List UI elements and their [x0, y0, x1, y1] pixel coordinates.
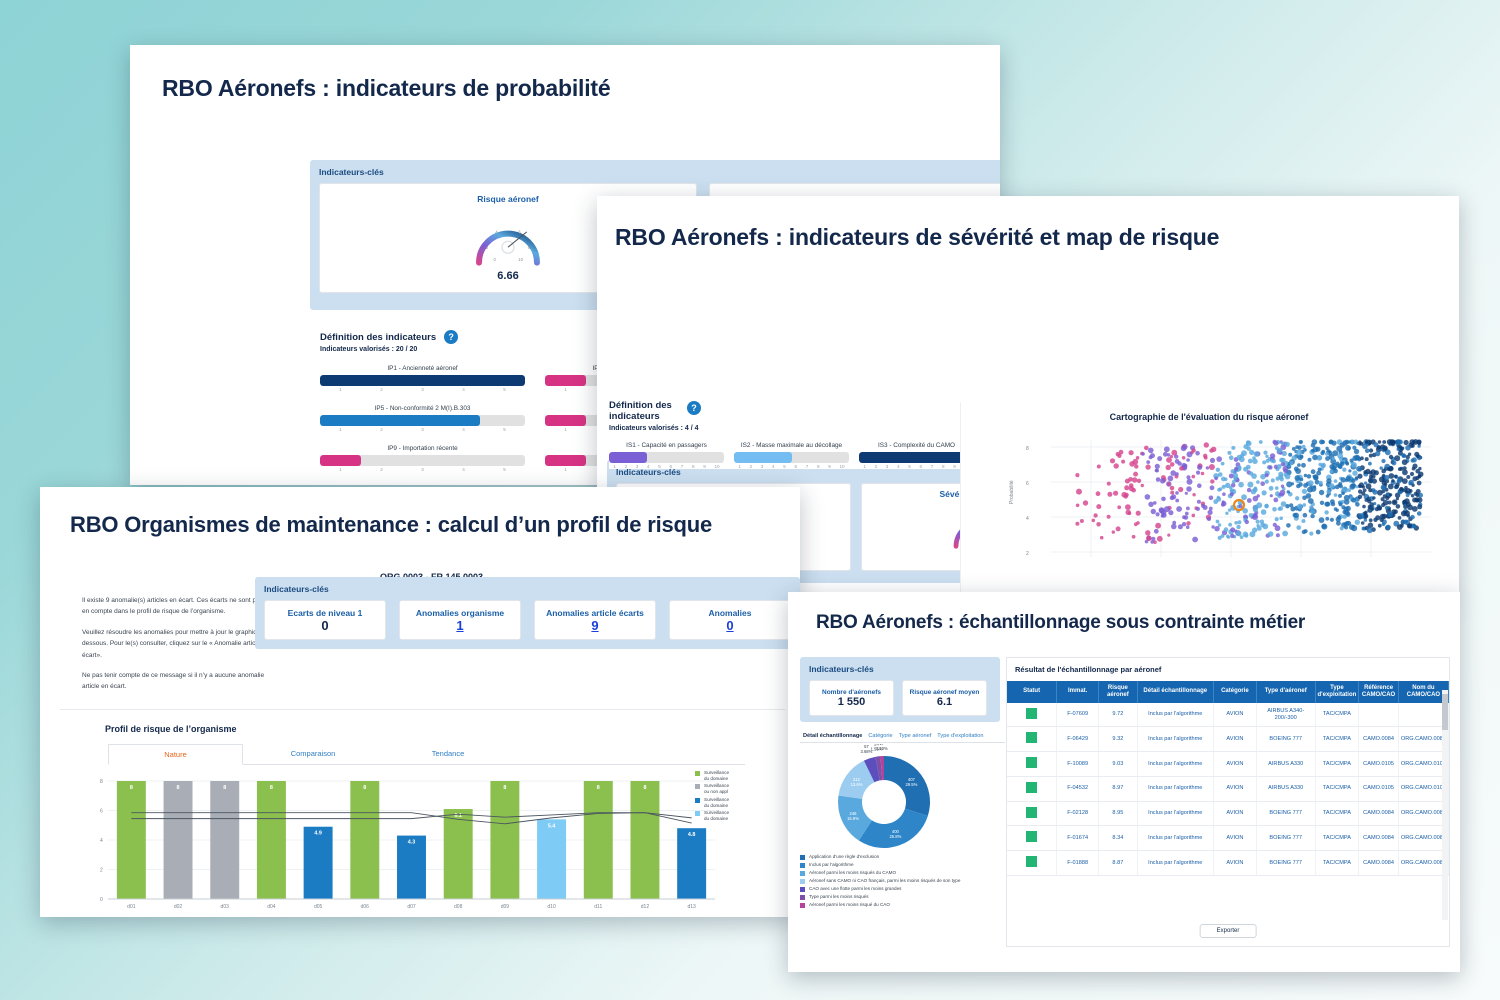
tab-detail-echantillonnage[interactable]: Détail échantillonnage — [800, 730, 865, 742]
legend-swatch — [800, 855, 805, 860]
cell-detail: Inclus par l'algorithme — [1137, 776, 1213, 801]
risk-map-section[interactable]: Cartographie de l'évaluation du risque a… — [960, 402, 1457, 594]
table-row[interactable]: F-045328.97Inclus par l'algorithmeAVIONA… — [1007, 776, 1449, 801]
svg-text:d07: d07 — [407, 904, 416, 910]
svg-text:1.10%: 1.10% — [876, 746, 888, 751]
svg-text:2: 2 — [100, 868, 103, 874]
indicator-bar — [320, 455, 525, 466]
svg-text:d09: d09 — [501, 904, 510, 910]
col-detail-echantillonnage[interactable]: Détail échantillonnage — [1137, 681, 1213, 703]
cell-nom-camo: ORG.CAMO.0105 — [1398, 776, 1448, 801]
col-risque-aeronef[interactable]: Risque aéronef — [1099, 681, 1137, 703]
col-type-aeronef[interactable]: Type d'aéronef — [1256, 681, 1315, 703]
cell-immat: F-01888 — [1057, 851, 1099, 876]
message-line-3: Ne pas tenir compte de ce message si il … — [82, 670, 277, 693]
col-type-exploitation[interactable]: Type d'exploitation — [1315, 681, 1359, 703]
cell-statut — [1007, 851, 1057, 876]
cell-type-aeronef: AIRBUS A330 — [1256, 776, 1315, 801]
kpi-section-sampling: Indicateurs-clés Nombre d'aéronefs 1 550… — [800, 657, 1000, 722]
card-value[interactable]: 9 — [591, 618, 598, 633]
col-nom-camo[interactable]: Nom du CAMO/CAO — [1398, 681, 1448, 703]
card-title: Ecarts de niveau 1 — [288, 608, 363, 618]
kpi-header: Indicateurs-clés — [264, 584, 791, 594]
svg-text:d02: d02 — [174, 904, 183, 910]
map-title: Cartographie de l'évaluation du risque a… — [961, 412, 1457, 422]
page-title: RBO Aéronefs : indicateurs de sévérité e… — [615, 224, 1459, 251]
table-row[interactable]: F-021288.95Inclus par l'algorithmeAVIONB… — [1007, 801, 1449, 826]
svg-text:d11: d11 — [594, 904, 602, 910]
warning-message: Il existe 9 anomalie(s) articles en écar… — [82, 595, 277, 693]
legend-label: Aéronef parmi les moins risqués du CAMO — [809, 870, 896, 876]
kpi-card-risque-moyen[interactable]: Risque aéronef moyen 6.1 — [902, 680, 987, 716]
indicator-label: IS2 - Masse maximale au décollage — [734, 442, 849, 449]
message-line-1: Il existe 9 anomalie(s) articles en écar… — [82, 595, 277, 618]
svg-text:13.6%: 13.6% — [851, 782, 863, 787]
legend-label: CAO avec une flotte parmi les moins gran… — [809, 886, 901, 892]
table-title: Résultat de l'échantillonnage par aérone… — [1007, 658, 1449, 681]
legend-label: Aéronef parmi les moins risqué du CAO — [809, 902, 890, 908]
cell-type-aeronef: BOEING 777 — [1256, 801, 1315, 826]
svg-text:5.4: 5.4 — [548, 823, 556, 829]
export-button[interactable]: Exporter — [1200, 924, 1257, 938]
section-title: Définition des indicateurs — [609, 401, 679, 423]
kpi-card-ecarts-niveau-1[interactable]: Ecarts de niveau 1 0 — [264, 600, 386, 640]
card-value[interactable]: 1 — [456, 618, 463, 633]
cell-categorie: AVION — [1213, 851, 1256, 876]
risk-profile-chart-section: Profil de risque de l’organisme Nature C… — [60, 709, 785, 909]
cell-risque: 9.32 — [1099, 727, 1137, 752]
cell-exploitation: TAC/CMPA — [1315, 801, 1359, 826]
svg-text:4: 4 — [100, 838, 103, 844]
card-title: Anomalies — [709, 608, 752, 618]
indicator-ip9[interactable]: IP9 - Importation récente 12345 — [320, 445, 525, 472]
scrollbar-thumb[interactable] — [1442, 694, 1448, 730]
tab-tendance[interactable]: Tendance — [383, 744, 513, 764]
indicator-is1[interactable]: IS1 - Capacité en passagers 12345678910 — [609, 442, 724, 469]
cell-exploitation: TAC/CMPA — [1315, 752, 1359, 777]
cell-immat: F-01674 — [1057, 826, 1099, 851]
card-value: 6.1 — [937, 696, 952, 708]
cell-nom-camo: ORG.CAMO.0084 — [1398, 801, 1448, 826]
cell-statut — [1007, 752, 1057, 777]
cell-nom-camo: ORG.CAMO.0084 — [1398, 727, 1448, 752]
cell-risque: 8.34 — [1099, 826, 1137, 851]
svg-text:8: 8 — [1026, 446, 1029, 452]
chart-title: Profil de risque de l’organisme — [105, 724, 785, 734]
sampling-table[interactable]: Statut Immat. Risque aéronef Détail écha… — [1007, 681, 1449, 876]
table-scrollbar[interactable] — [1442, 690, 1448, 920]
svg-text:8: 8 — [503, 785, 506, 791]
cell-reference: CAMO.0105 — [1359, 776, 1399, 801]
legend-swatch — [800, 895, 805, 900]
donut-legend: Application d'une règle d'exclusion Incl… — [800, 854, 1000, 910]
legend-swatch — [695, 771, 700, 776]
legend-swatch — [800, 863, 805, 868]
message-line-2: Veuillez résoudre les anomalies pour met… — [82, 627, 277, 661]
kpi-header: Indicateurs-clés — [319, 167, 1000, 177]
indicator-ticks: 12345678910 — [859, 464, 974, 469]
indicator-label: IS1 - Capacité en passagers — [609, 442, 724, 449]
svg-text:6: 6 — [100, 809, 103, 815]
svg-text:25.8%: 25.8% — [889, 834, 901, 839]
cell-risque: 8.87 — [1099, 851, 1137, 876]
kpi-card-anomalies-organisme[interactable]: Anomalies organisme 1 — [399, 600, 521, 640]
svg-text:8: 8 — [270, 785, 273, 791]
cell-detail: Inclus par l'algorithme — [1137, 851, 1213, 876]
status-badge — [1026, 856, 1037, 867]
chart-legend: Surveillancedu domaine Surveillanceou no… — [695, 770, 790, 824]
cell-exploitation: TAC/CMPA — [1315, 776, 1359, 801]
table-row[interactable]: F-076099.72Inclus par l'algorithmeAVIONA… — [1007, 703, 1449, 727]
cell-detail: Inclus par l'algorithme — [1137, 801, 1213, 826]
indicator-label: IP1 - Ancienneté aéronef — [320, 365, 525, 372]
svg-text:4.9: 4.9 — [314, 831, 322, 837]
cell-reference: CAMO.0105 — [1359, 752, 1399, 777]
legend-swatch — [695, 784, 700, 789]
status-badge — [1026, 757, 1037, 768]
legend-swatch — [695, 798, 700, 803]
status-badge — [1026, 782, 1037, 793]
legend-swatch — [800, 903, 805, 908]
legend-swatch — [695, 811, 700, 816]
donut-chart: 40729.5%40025.8%24615.9%21213.6%573.68%2… — [796, 744, 1006, 864]
cell-immat: F-06429 — [1057, 727, 1099, 752]
legend-item: Inclus par l'algorithme — [800, 862, 1000, 868]
cell-nom-camo: ORG.CAMO.0084 — [1398, 826, 1448, 851]
cell-categorie: AVION — [1213, 826, 1256, 851]
svg-text:d08: d08 — [454, 904, 463, 910]
status-badge — [1026, 831, 1037, 842]
help-icon[interactable]: ? — [687, 401, 701, 415]
panel-maintenance[interactable]: RBO Organismes de maintenance : calcul d… — [40, 487, 800, 917]
kpi-card-nombre-aeronefs[interactable]: Nombre d'aéronefs 1 550 — [809, 680, 894, 716]
svg-text:d03: d03 — [221, 904, 230, 910]
table-row[interactable]: F-016748.34Inclus par l'algorithmeAVIONB… — [1007, 826, 1449, 851]
legend-item: Application d'une règle d'exclusion — [800, 854, 1000, 860]
cell-categorie: AVION — [1213, 776, 1256, 801]
legend-label: Surveillanceou non appl — [704, 783, 729, 794]
svg-text:8: 8 — [363, 785, 366, 791]
status-badge — [1026, 708, 1037, 719]
cell-categorie: AVION — [1213, 727, 1256, 752]
cell-type-aeronef: BOEING 777 — [1256, 851, 1315, 876]
indicator-is2[interactable]: IS2 - Masse maximale au décollage 123456… — [734, 442, 849, 469]
card-title: Anomalies article écarts — [546, 608, 644, 618]
gauge-value: 6.66 — [497, 270, 518, 282]
panel-sampling[interactable]: RBO Aéronefs : échantillonnage sous cont… — [788, 592, 1460, 972]
svg-text:4: 4 — [1026, 516, 1029, 522]
indicator-is3[interactable]: IS3 - Complexité du CAMO 12345678910 — [859, 442, 974, 469]
bar-chart: 024688d018d028d038d044.9d058d064.3d076.1… — [60, 771, 785, 917]
cell-immat: F-04532 — [1057, 776, 1099, 801]
indicator-ticks: 12345678910 — [734, 464, 849, 469]
table-header-row: Statut Immat. Risque aéronef Détail écha… — [1007, 681, 1449, 703]
indicator-bar — [320, 375, 525, 386]
page-title: RBO Organismes de maintenance : calcul d… — [70, 512, 800, 538]
indicator-bar — [609, 452, 724, 463]
cell-detail: Inclus par l'algorithme — [1137, 703, 1213, 727]
svg-text:8: 8 — [177, 785, 180, 791]
svg-text:d06: d06 — [361, 904, 370, 910]
svg-text:15.9%: 15.9% — [847, 816, 859, 821]
tab-type-aeronef[interactable]: Type aéronef — [896, 730, 935, 742]
legend-swatch — [800, 871, 805, 876]
col-categorie[interactable]: Catégorie — [1213, 681, 1256, 703]
svg-text:d13: d13 — [687, 904, 696, 910]
help-icon[interactable]: ? — [444, 330, 458, 344]
cell-exploitation: TAC/CMPA — [1315, 703, 1359, 727]
cell-nom-camo: ORG.CAMO.0105 — [1398, 752, 1448, 777]
status-badge — [1026, 732, 1037, 743]
legend-swatch — [800, 887, 805, 892]
svg-text:d10: d10 — [547, 904, 556, 910]
cell-reference — [1359, 703, 1399, 727]
cell-risque: 9.72 — [1099, 703, 1137, 727]
kpi-section-maintenance: Indicateurs-clés Ecarts de niveau 1 0 An… — [255, 577, 800, 649]
indicator-ip1[interactable]: IP1 - Ancienneté aéronef 12345 — [320, 365, 525, 392]
gauge-risque-aeronef: 4 6 2 8 0 10 — [465, 208, 551, 266]
svg-text:29.5%: 29.5% — [905, 782, 917, 787]
cell-detail: Inclus par l'algorithme — [1137, 727, 1213, 752]
svg-text:4.3: 4.3 — [408, 840, 416, 846]
indicator-ticks: 12345 — [320, 427, 525, 432]
cell-immat: F-07609 — [1057, 703, 1099, 727]
cell-reference: CAMO.0084 — [1359, 727, 1399, 752]
sampling-tabs[interactable]: Détail échantillonnage Catégorie Type aé… — [800, 730, 1005, 743]
legend-item: Surveillancedu domaine — [695, 770, 790, 781]
tab-comparaison[interactable]: Comparaison — [243, 744, 383, 764]
indicator-bar — [320, 415, 525, 426]
indicator-label: IS3 - Complexité du CAMO — [859, 442, 974, 449]
indicator-bar — [859, 452, 974, 463]
indicator-ticks: 12345678910 — [609, 464, 724, 469]
cell-statut — [1007, 727, 1057, 752]
cell-risque: 8.97 — [1099, 776, 1137, 801]
svg-text:8: 8 — [643, 785, 646, 791]
svg-text:2: 2 — [1026, 551, 1029, 557]
svg-text:0: 0 — [494, 257, 497, 262]
indicator-ip5[interactable]: IP5 - Non-conformité 2 M(I).B.303 12345 — [320, 405, 525, 432]
card-value[interactable]: 0 — [726, 618, 733, 633]
tab-categorie[interactable]: Catégorie — [865, 730, 895, 742]
svg-text:d12: d12 — [641, 904, 650, 910]
chart-tabs[interactable]: Nature Comparaison Tendance — [108, 744, 745, 765]
legend-swatch — [800, 879, 805, 884]
table-row[interactable]: F-064299.32Inclus par l'algorithmeAVIONB… — [1007, 727, 1449, 752]
legend-label: Surveillancedu domaine — [704, 770, 729, 781]
cell-risque: 8.95 — [1099, 801, 1137, 826]
indicator-ticks: 12345 — [320, 387, 525, 392]
status-badge — [1026, 807, 1037, 818]
cell-statut — [1007, 776, 1057, 801]
cell-statut — [1007, 801, 1057, 826]
svg-text:10: 10 — [518, 257, 523, 262]
card-title: Risque aéronef — [477, 194, 538, 204]
col-statut[interactable]: Statut — [1007, 681, 1057, 703]
cell-exploitation: TAC/CMPA — [1315, 851, 1359, 876]
cell-reference: CAMO.0084 — [1359, 801, 1399, 826]
table-row[interactable]: F-100899.03Inclus par l'algorithmeAVIONA… — [1007, 752, 1449, 777]
cell-detail: Inclus par l'algorithme — [1137, 752, 1213, 777]
cell-immat: F-02128 — [1057, 801, 1099, 826]
legend-item: Surveillanceou non appl — [695, 783, 790, 794]
svg-text:8: 8 — [100, 779, 103, 785]
section-title: Définition des indicateurs — [320, 332, 436, 343]
legend-item: Aéronef parmi les moins risqués du CAMO — [800, 870, 1000, 876]
svg-text:8: 8 — [597, 785, 600, 791]
svg-text:4.8: 4.8 — [688, 832, 696, 838]
card-value: 0 — [321, 618, 328, 633]
kpi-card-anomalies[interactable]: Anomalies 0 — [669, 600, 791, 640]
card-title: Nombre d'aéronefs — [822, 689, 881, 696]
indicator-ticks: 12345 — [320, 467, 525, 472]
svg-text:d01: d01 — [127, 904, 136, 910]
svg-text:d04: d04 — [267, 904, 276, 910]
map-y-label: Probabilité — [1009, 480, 1015, 504]
cell-type-aeronef: AIRBUS A340-200/-300 — [1256, 703, 1315, 727]
legend-item: Surveillancedu domaine — [695, 797, 790, 808]
cell-type-aeronef: AIRBUS A330 — [1256, 752, 1315, 777]
cell-exploitation: TAC/CMPA — [1315, 826, 1359, 851]
cell-nom-camo: ORG.CAMO.0084 — [1398, 851, 1448, 876]
sampling-table-section[interactable]: Résultat de l'échantillonnage par aérone… — [1006, 657, 1450, 947]
legend-label: Aéronef sans CAMO ni CAO français, parmi… — [809, 878, 960, 884]
legend-label: Application d'une règle d'exclusion — [809, 854, 879, 860]
card-value: 1 550 — [838, 696, 866, 708]
svg-text:8: 8 — [223, 785, 226, 791]
indicator-label: IP9 - Importation récente — [320, 445, 525, 452]
cell-type-aeronef: BOEING 777 — [1256, 826, 1315, 851]
kpi-card-anomalies-article-ecarts[interactable]: Anomalies article écarts 9 — [534, 600, 656, 640]
legend-label: Surveillancedu domaine — [704, 810, 729, 821]
svg-text:8: 8 — [130, 785, 133, 791]
legend-label: Surveillancedu domaine — [704, 797, 729, 808]
cell-statut — [1007, 703, 1057, 727]
indicator-bar — [734, 452, 849, 463]
cell-categorie: AVION — [1213, 703, 1256, 727]
col-reference-camo[interactable]: Référence CAMO/CAO — [1359, 681, 1399, 703]
legend-item: Type parmi les moins risqués — [800, 894, 1000, 900]
card-title: Anomalies organisme — [416, 608, 504, 618]
card-title: Risque aéronef moyen — [910, 689, 980, 696]
cell-type-aeronef: BOEING 777 — [1256, 727, 1315, 752]
cell-categorie: AVION — [1213, 801, 1256, 826]
legend-item: Aéronef parmi les moins risqué du CAO — [800, 902, 1000, 908]
svg-text:d05: d05 — [314, 904, 323, 910]
scatter-plot: Probabilité 86 42 — [961, 422, 1458, 582]
tab-type-exploitation[interactable]: Type d'exploitation — [934, 730, 986, 742]
svg-text:0: 0 — [100, 897, 103, 903]
legend-label: Inclus par l'algorithme — [809, 862, 854, 868]
page-title: RBO Aéronefs : échantillonnage sous cont… — [816, 612, 1460, 634]
legend-item: CAO avec une flotte parmi les moins gran… — [800, 886, 1000, 892]
cell-detail: Inclus par l'algorithme — [1137, 826, 1213, 851]
cell-reference: CAMO.0084 — [1359, 851, 1399, 876]
legend-label: Type parmi les moins risqués — [809, 894, 869, 900]
legend-item: Aéronef sans CAMO ni CAO français, parmi… — [800, 878, 1000, 884]
page-title: RBO Aéronefs : indicateurs de probabilit… — [162, 75, 1000, 102]
indicator-label: IP5 - Non-conformité 2 M(I).B.303 — [320, 405, 525, 412]
col-immat[interactable]: Immat. — [1057, 681, 1099, 703]
cell-immat: F-10089 — [1057, 752, 1099, 777]
cell-nom-camo — [1398, 703, 1448, 727]
cell-exploitation: TAC/CMPA — [1315, 727, 1359, 752]
kpi-header: Indicateurs-clés — [809, 664, 991, 674]
cell-reference: CAMO.0084 — [1359, 826, 1399, 851]
cell-categorie: AVION — [1213, 752, 1256, 777]
tab-nature[interactable]: Nature — [108, 744, 243, 765]
svg-text:6: 6 — [1026, 481, 1029, 487]
cell-statut — [1007, 826, 1057, 851]
table-row[interactable]: F-018888.87Inclus par l'algorithmeAVIONB… — [1007, 851, 1449, 876]
legend-item: Surveillancedu domaine — [695, 810, 790, 821]
cell-risque: 9.03 — [1099, 752, 1137, 777]
svg-text:2: 2 — [486, 245, 489, 250]
